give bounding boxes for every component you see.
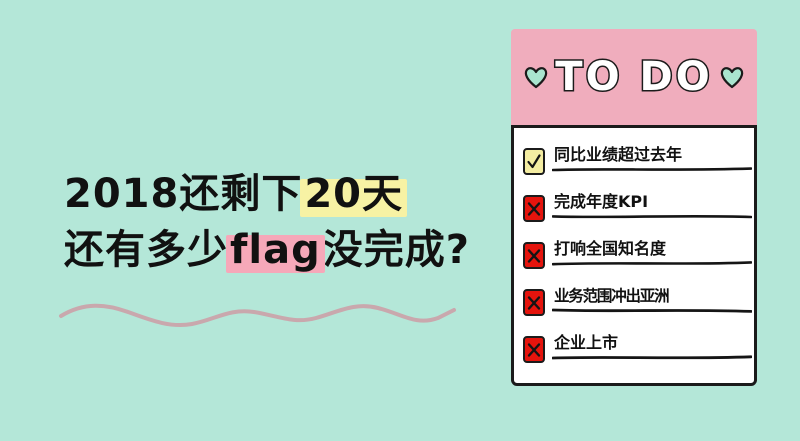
- todo-card-header: TO DO: [511, 29, 757, 128]
- cross-icon: [526, 294, 542, 312]
- list-item-label: 打响全国知名度: [554, 238, 745, 260]
- list-item-label: 完成年度KPI: [554, 191, 745, 213]
- list-item-text-wrap: 同比业绩超过去年: [554, 142, 745, 166]
- headline-highlight-days: 20天: [302, 168, 405, 220]
- checkbox-crossed[interactable]: [523, 336, 545, 363]
- item-underline: [552, 307, 752, 313]
- item-underline: [552, 354, 752, 360]
- item-underline: [552, 260, 752, 266]
- todo-card: TO DO 同比业绩超过去年: [511, 29, 757, 386]
- headline-line-2-prefix: 还有多少: [64, 227, 228, 273]
- list-item-text-wrap: 企业上市: [554, 330, 745, 354]
- list-item-text-wrap: 业务范围冲出亚洲: [554, 283, 745, 307]
- wavy-underline-icon: [58, 296, 458, 330]
- heart-icon-right: [719, 65, 745, 89]
- list-item-label: 业务范围冲出亚洲: [554, 285, 745, 307]
- item-underline: [552, 166, 752, 172]
- headline: 2018还剩下20天 还有多少flag没完成?: [64, 168, 494, 276]
- cross-icon: [526, 247, 542, 265]
- item-underline: [552, 213, 752, 219]
- headline-line-2-suffix: 没完成?: [323, 227, 470, 273]
- list-item[interactable]: 业务范围冲出亚洲: [523, 283, 745, 330]
- todo-card-title: TO DO: [555, 57, 712, 97]
- list-item-label: 企业上市: [554, 332, 745, 354]
- list-item-text-wrap: 打响全国知名度: [554, 236, 745, 260]
- headline-line-1-prefix: 2018还剩下: [64, 171, 302, 217]
- checkbox-crossed[interactable]: [523, 195, 545, 222]
- cross-icon: [526, 200, 542, 218]
- list-item[interactable]: 完成年度KPI: [523, 189, 745, 236]
- checkbox-crossed[interactable]: [523, 242, 545, 269]
- heart-icon-left: [523, 65, 549, 89]
- list-item-text-wrap: 完成年度KPI: [554, 189, 745, 213]
- list-item[interactable]: 同比业绩超过去年: [523, 142, 745, 189]
- checkbox-crossed[interactable]: [523, 289, 545, 316]
- headline-line-1: 2018还剩下20天: [64, 168, 494, 220]
- headline-line-2: 还有多少flag没完成?: [64, 224, 494, 276]
- headline-highlight-flag: flag: [228, 224, 323, 276]
- list-item-label: 同比业绩超过去年: [554, 144, 745, 166]
- checkbox-checked[interactable]: [523, 148, 545, 175]
- todo-list: 同比业绩超过去年 完成年度KPI: [511, 128, 757, 386]
- list-item[interactable]: 企业上市: [523, 330, 745, 377]
- check-icon: [526, 153, 542, 171]
- list-item[interactable]: 打响全国知名度: [523, 236, 745, 283]
- cross-icon: [526, 341, 542, 359]
- poster-canvas: 2018还剩下20天 还有多少flag没完成? TO DO: [0, 0, 800, 441]
